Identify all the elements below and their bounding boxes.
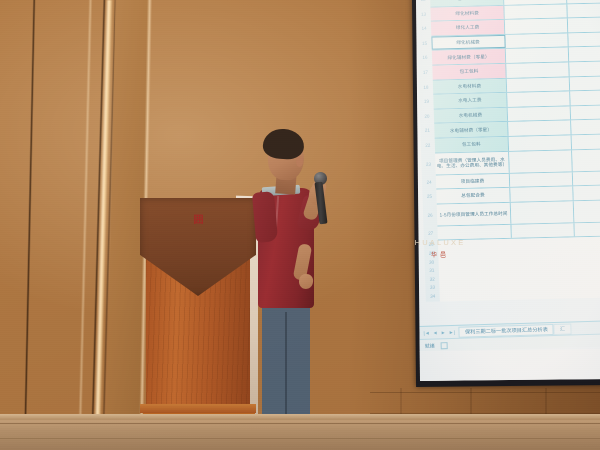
- cell-label[interactable]: 水电材料费: [433, 78, 507, 93]
- cell-label[interactable]: 总包配合费: [436, 188, 510, 203]
- row-header[interactable]: 13: [416, 7, 430, 22]
- row-header[interactable]: 15: [417, 36, 431, 51]
- cell-label[interactable]: 水电机械费: [434, 108, 508, 123]
- cell-value-b[interactable]: [508, 121, 571, 136]
- floor-seam-2: [0, 438, 600, 439]
- row-header-empty[interactable]: 32: [425, 275, 439, 284]
- wall-joint-a: [370, 392, 600, 393]
- podium-brand-latin: HUALUXE: [140, 238, 600, 247]
- cell-label[interactable]: 水电人工费: [433, 93, 507, 108]
- cell-value-b[interactable]: [511, 201, 575, 223]
- cell-value-c[interactable]: [568, 32, 600, 46]
- cell-label[interactable]: 绿化材料费: [430, 5, 504, 20]
- cell-value-c[interactable]: [571, 105, 600, 119]
- cell-label[interactable]: 1-5月份项目管理人员工作总时间: [437, 203, 512, 226]
- cell-value-c[interactable]: [567, 3, 600, 17]
- podium-plinth-top: [140, 404, 256, 413]
- row-header[interactable]: 17: [418, 66, 432, 81]
- podium-logo-mark: 囲: [140, 216, 256, 226]
- cell-label[interactable]: 包工包料: [435, 137, 509, 152]
- cell-value-c[interactable]: [573, 171, 600, 185]
- speaker-ear: [296, 156, 303, 167]
- grid-icon[interactable]: [441, 342, 448, 349]
- cell-value-c[interactable]: [571, 120, 600, 134]
- cell-label[interactable]: 绿化机械费: [431, 35, 505, 50]
- speaker-leg-seam: [285, 312, 287, 422]
- projection-screen-frame: 12包工包料13绿化材料费14绿化人工费15绿化机械费16绿化辅材费（零星）17…: [412, 0, 600, 387]
- cell-value-c[interactable]: [570, 76, 600, 90]
- row-header[interactable]: 19: [419, 95, 433, 110]
- sheet-next-icon[interactable]: ►: [441, 330, 446, 336]
- row-header[interactable]: 21: [420, 124, 434, 139]
- cell-label[interactable]: 水电辅材费（零星）: [434, 122, 508, 137]
- cell-value-b[interactable]: [505, 33, 568, 48]
- row-header[interactable]: 18: [419, 80, 433, 95]
- cell-value-b[interactable]: [506, 48, 569, 63]
- sheet-last-icon[interactable]: ►|: [449, 329, 455, 335]
- cell-label[interactable]: 绿化人工费: [431, 20, 505, 35]
- status-ready-label: 就绪: [425, 342, 435, 349]
- row-header[interactable]: 16: [418, 51, 432, 66]
- cell-value-c[interactable]: [568, 18, 600, 32]
- cell-value-c[interactable]: [569, 62, 600, 76]
- cell-label[interactable]: 包工包料: [432, 64, 506, 79]
- sheet-tab-next[interactable]: 汇: [554, 323, 572, 335]
- cell-value-b[interactable]: [509, 135, 572, 150]
- row-header-empty[interactable]: 34: [426, 292, 440, 301]
- cell-value-c[interactable]: [574, 200, 600, 222]
- cell-value-c[interactable]: [573, 186, 600, 200]
- row-header[interactable]: 20: [420, 109, 434, 124]
- row-header[interactable]: 22: [421, 139, 435, 154]
- cell-label[interactable]: 项目管理费（管理人员费用、水电、生活、办公费用、其他费等）: [435, 151, 510, 174]
- projection-screen: 12包工包料13绿化材料费14绿化人工费15绿化机械费16绿化辅材费（零星）17…: [416, 0, 600, 381]
- cell-value-c[interactable]: [570, 91, 600, 105]
- row-header[interactable]: 14: [417, 22, 431, 37]
- cell-value-b[interactable]: [507, 77, 570, 92]
- cell-value-c[interactable]: [572, 135, 600, 149]
- row-header[interactable]: 25: [422, 190, 436, 205]
- sheet-first-icon[interactable]: |◄: [423, 330, 429, 336]
- cell-value-b[interactable]: [510, 172, 573, 187]
- cell-value-b[interactable]: [511, 223, 574, 238]
- cell-value-b[interactable]: [509, 150, 573, 172]
- cell-value-c[interactable]: [572, 149, 600, 171]
- cell-value-b[interactable]: [510, 187, 573, 202]
- cell-value-b[interactable]: [507, 92, 570, 107]
- speaker-sleeve-left: [252, 191, 278, 243]
- sheet-prev-icon[interactable]: ◄: [433, 330, 438, 336]
- row-header[interactable]: 23: [421, 153, 436, 175]
- cell-label[interactable]: 绿化辅材费（零星）: [432, 49, 506, 64]
- stage-floor: [0, 420, 600, 450]
- cell-value-c[interactable]: [574, 222, 600, 236]
- cell-value-b[interactable]: [508, 106, 571, 121]
- cell-value-b[interactable]: [505, 19, 568, 34]
- floor-seam-1: [0, 423, 600, 424]
- cell-value-b[interactable]: [506, 62, 569, 77]
- row-header-empty[interactable]: 33: [425, 284, 439, 293]
- row-header[interactable]: 24: [422, 175, 436, 190]
- screen-footer-area: [420, 349, 600, 381]
- presentation-photo: 12包工包料13绿化材料费14绿化人工费15绿化机械费16绿化辅材费（零星）17…: [0, 0, 600, 450]
- sheet-nav-buttons[interactable]: |◄ ◄ ► ►|: [419, 329, 459, 336]
- cell-value-b[interactable]: [504, 4, 567, 19]
- podium-brand-cn: 华邑: [140, 250, 600, 259]
- cell-value-c[interactable]: [569, 47, 600, 61]
- row-header-empty[interactable]: 31: [425, 267, 439, 276]
- row-header-empty[interactable]: 30: [425, 258, 439, 267]
- cell-label[interactable]: 项目临建费: [436, 173, 510, 188]
- row-header[interactable]: 26: [423, 204, 438, 226]
